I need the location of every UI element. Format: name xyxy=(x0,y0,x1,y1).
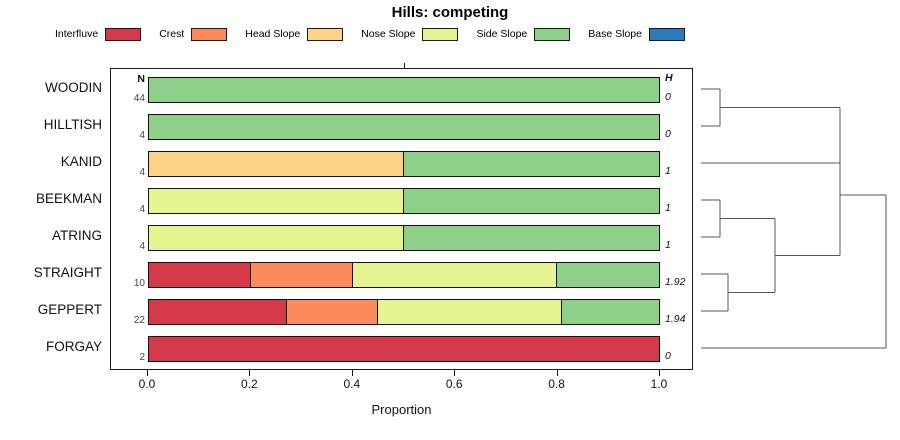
legend-swatch-icon xyxy=(534,28,570,41)
legend: InterfluveCrestHead SlopeNose SlopeSide … xyxy=(55,25,845,43)
y-axis-label: STRAIGHT xyxy=(0,265,108,280)
n-value: 10 xyxy=(111,278,145,289)
bar-segment[interactable] xyxy=(557,263,659,287)
legend-item[interactable]: Base Slope xyxy=(588,28,685,41)
top-tick xyxy=(404,63,405,69)
x-axis-tick xyxy=(352,370,353,376)
legend-label: Nose Slope xyxy=(361,28,415,40)
legend-swatch-icon xyxy=(422,28,458,41)
x-axis-tick-label: 0.2 xyxy=(241,377,258,391)
x-axis: 0.00.20.40.60.81.0 xyxy=(110,370,693,400)
y-axis-label: WOODIN xyxy=(0,80,108,95)
legend-label: Head Slope xyxy=(245,28,300,40)
bar-segment[interactable] xyxy=(251,263,353,287)
bar-segment[interactable] xyxy=(404,152,659,176)
stacked-bar[interactable] xyxy=(148,151,660,177)
bar-segment[interactable] xyxy=(378,300,562,324)
stacked-bar[interactable] xyxy=(148,299,660,325)
x-axis-tick-label: 0.4 xyxy=(343,377,360,391)
stacked-bar[interactable] xyxy=(148,336,660,362)
legend-label: Interfluve xyxy=(55,28,98,40)
x-axis-tick xyxy=(557,370,558,376)
bar-segment[interactable] xyxy=(149,263,251,287)
y-axis-label: BEEKMAN xyxy=(0,191,108,206)
n-value: 22 xyxy=(111,315,145,326)
x-axis-tick xyxy=(147,370,148,376)
legend-item[interactable]: Interfluve xyxy=(55,28,141,41)
n-value: 44 xyxy=(111,93,145,104)
chart-root: Hills: competing InterfluveCrestHead Slo… xyxy=(0,0,900,440)
y-axis-label: ATRING xyxy=(0,228,108,243)
bar-segment[interactable] xyxy=(287,300,379,324)
legend-label: Base Slope xyxy=(588,28,642,40)
bar-segment[interactable] xyxy=(404,226,659,250)
stacked-bar[interactable] xyxy=(148,225,660,251)
dendrogram xyxy=(693,68,900,370)
legend-item[interactable]: Nose Slope xyxy=(361,28,458,41)
y-axis-label: KANID xyxy=(0,154,108,169)
stacked-bar[interactable] xyxy=(148,262,660,288)
stacked-bar[interactable] xyxy=(148,77,660,103)
legend-swatch-icon xyxy=(105,28,141,41)
bar-segment[interactable] xyxy=(149,115,659,139)
n-value: 4 xyxy=(111,130,145,141)
bar-segment[interactable] xyxy=(149,189,404,213)
legend-item[interactable]: Crest xyxy=(159,28,227,41)
legend-label: Crest xyxy=(159,28,184,40)
legend-swatch-icon xyxy=(649,28,685,41)
bar-segment[interactable] xyxy=(404,189,659,213)
x-axis-tick-label: 1.0 xyxy=(651,377,668,391)
bar-segment[interactable] xyxy=(149,78,659,102)
legend-swatch-icon xyxy=(307,28,343,41)
bars-layer: 44040414141101.92221.9420 xyxy=(111,69,692,369)
x-axis-tick-label: 0.6 xyxy=(446,377,463,391)
stacked-bar[interactable] xyxy=(148,188,660,214)
bar-segment[interactable] xyxy=(353,263,557,287)
n-value: 4 xyxy=(111,241,145,252)
n-value: 2 xyxy=(111,352,145,363)
x-axis-tick xyxy=(659,370,660,376)
plot-panel: N H 44040414141101.92221.9420 xyxy=(110,68,693,370)
bar-segment[interactable] xyxy=(149,226,404,250)
bar-segment[interactable] xyxy=(149,300,287,324)
bar-segment[interactable] xyxy=(562,300,659,324)
bar-segment[interactable] xyxy=(149,337,659,361)
dendrogram-svg xyxy=(693,68,900,370)
n-value: 4 xyxy=(111,204,145,215)
legend-item[interactable]: Head Slope xyxy=(245,28,343,41)
x-axis-tick-label: 0.0 xyxy=(139,377,156,391)
x-axis-title: Proportion xyxy=(110,402,693,417)
y-axis-label: FORGAY xyxy=(0,339,108,354)
y-axis-label: HILLTISH xyxy=(0,117,108,132)
y-axis-label: GEPPERT xyxy=(0,302,108,317)
legend-item[interactable]: Side Slope xyxy=(476,28,570,41)
legend-swatch-icon xyxy=(191,28,227,41)
legend-label: Side Slope xyxy=(476,28,527,40)
stacked-bar[interactable] xyxy=(148,114,660,140)
bar-segment[interactable] xyxy=(149,152,404,176)
x-axis-tick xyxy=(249,370,250,376)
page-title: Hills: competing xyxy=(0,4,900,21)
x-axis-tick xyxy=(454,370,455,376)
x-axis-tick-label: 0.8 xyxy=(548,377,565,391)
n-value: 4 xyxy=(111,167,145,178)
